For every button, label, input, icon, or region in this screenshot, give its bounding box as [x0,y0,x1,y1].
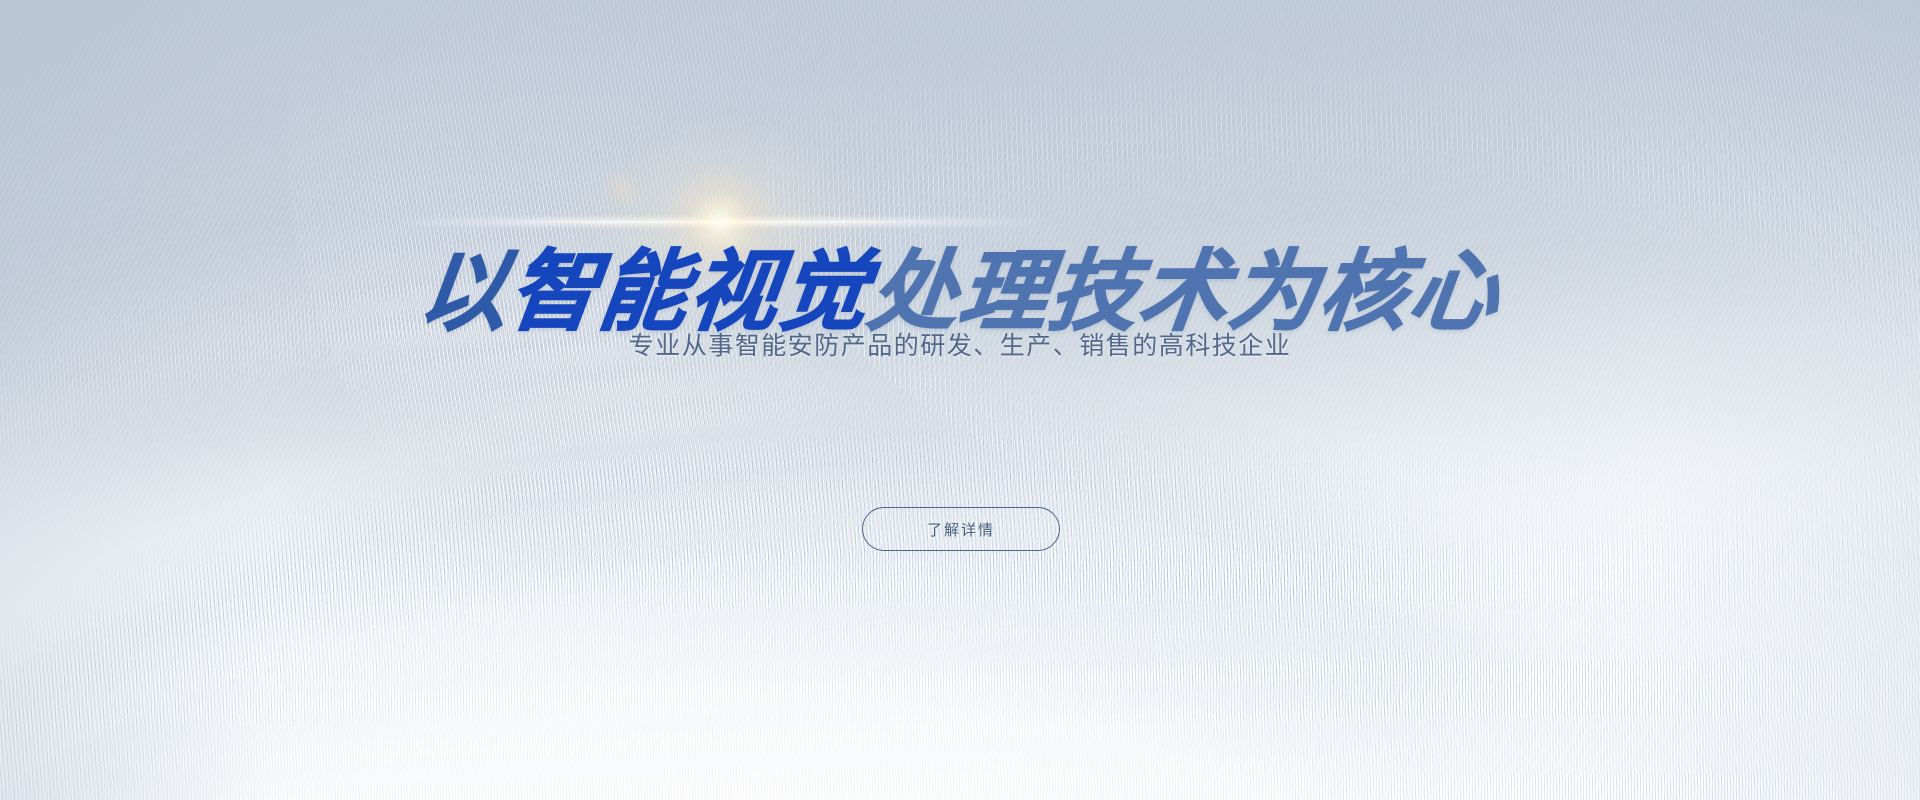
page-title-segment-2: 智能视觉 [505,248,876,336]
page-title-segment-3: 处理技术为核心 [865,248,1506,336]
learn-more-button[interactable]: 了解详情 [862,507,1060,551]
hero-content: 以智能视觉处理技术为核心 专业从事智能安防产品的研发、生产、销售的高科技企业 了… [0,0,1920,800]
page-title-segment-1: 以 [415,248,516,336]
page-title: 以智能视觉处理技术为核心 [420,248,1500,336]
page-subtitle: 专业从事智能安防产品的研发、生产、销售的高科技企业 [629,326,1292,362]
hero-banner: 以智能视觉处理技术为核心 专业从事智能安防产品的研发、生产、销售的高科技企业 了… [0,0,1920,800]
